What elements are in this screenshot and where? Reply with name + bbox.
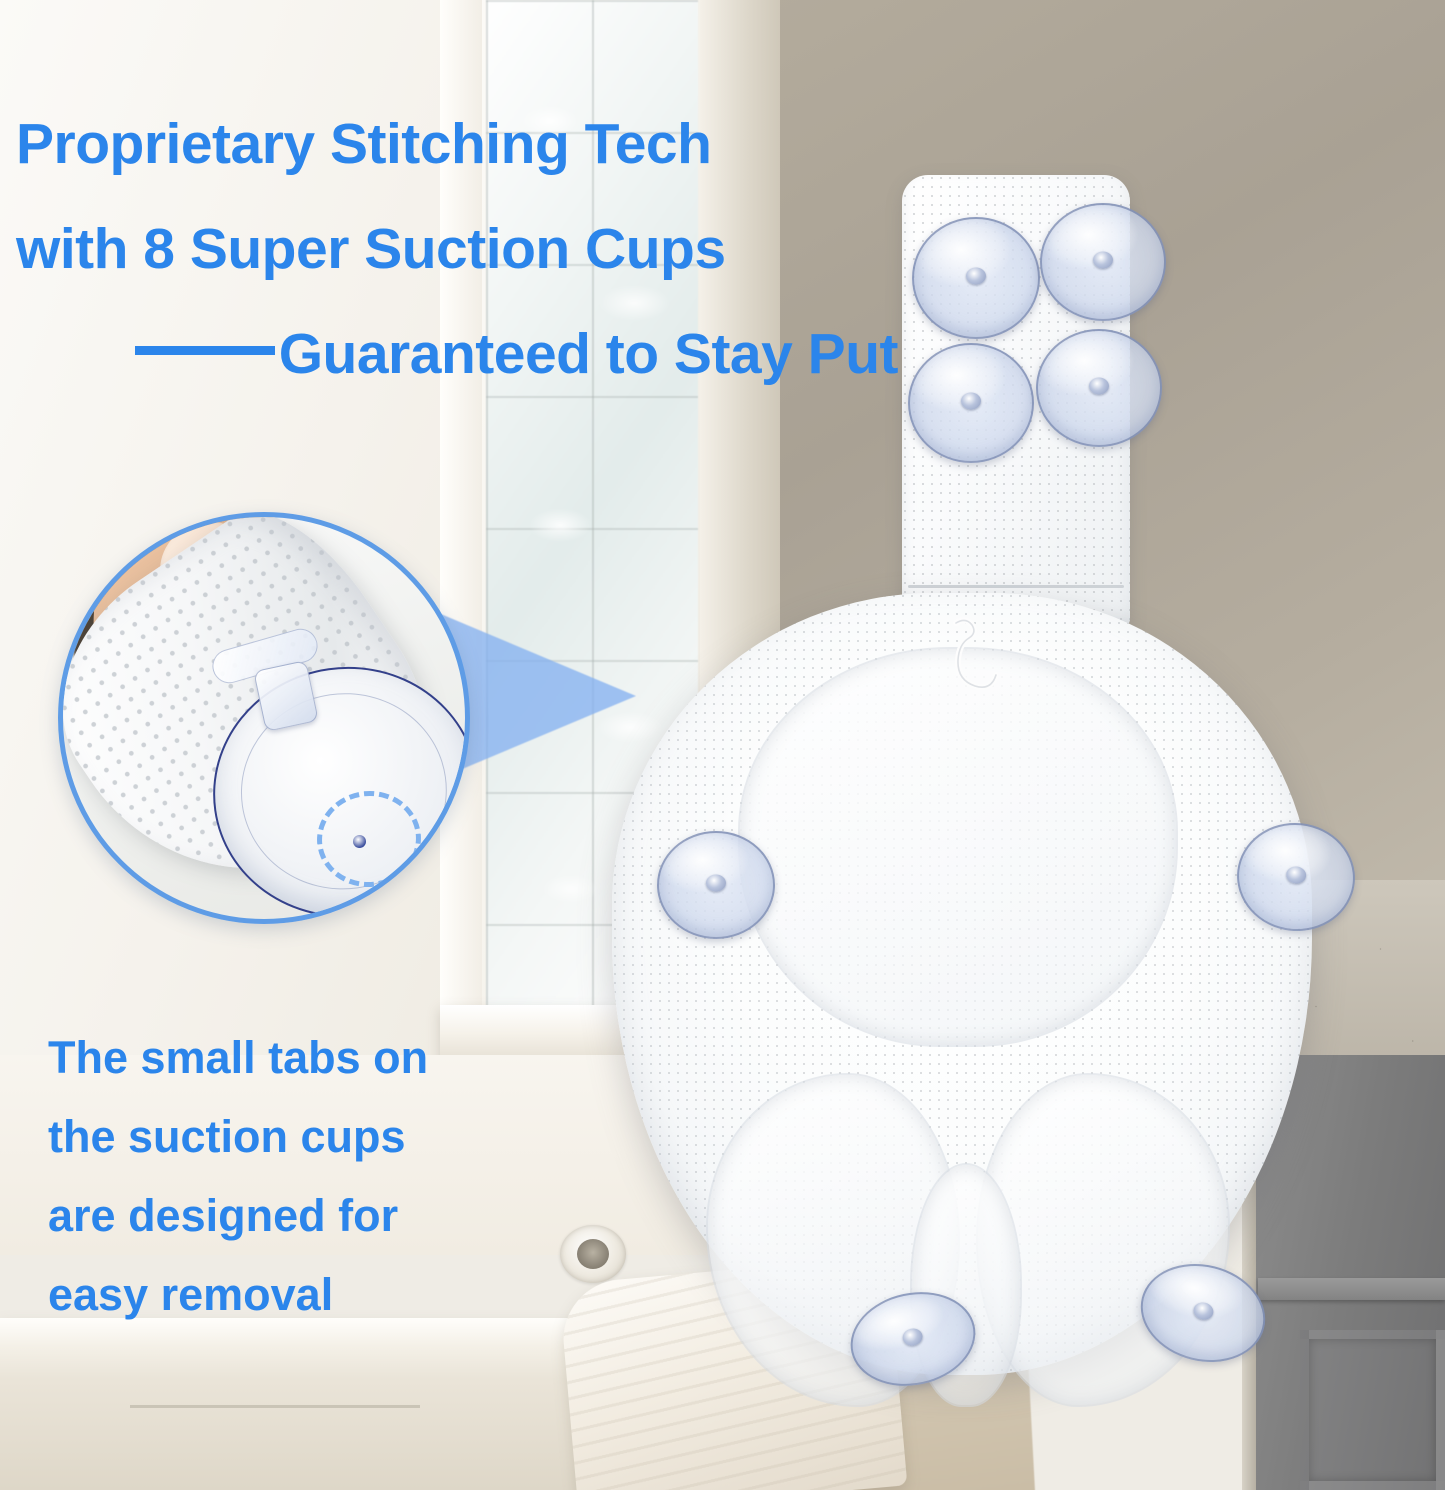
headline-line-3-text: Guaranteed to Stay Put xyxy=(279,322,898,386)
caption-line-4: easy removal xyxy=(48,1255,568,1334)
headline: Proprietary Stitching Tech with 8 Super … xyxy=(16,92,896,407)
suction-cup-neck-3 xyxy=(908,343,1034,463)
product-infographic: Proprietary Stitching Tech with 8 Super … xyxy=(0,0,1445,1490)
caption-line-2: the suction cups xyxy=(48,1097,568,1176)
tub-seam xyxy=(130,1405,420,1408)
suction-cup-neck-2 xyxy=(1040,203,1166,321)
hanging-hook-icon xyxy=(942,615,998,711)
caption-block: The small tabs on the suction cups are d… xyxy=(48,1018,568,1334)
headline-line-1: Proprietary Stitching Tech xyxy=(16,92,896,197)
headline-line-3: Guaranteed to Stay Put xyxy=(16,302,898,407)
caption-line-3: are designed for xyxy=(48,1176,568,1255)
em-dash-rule xyxy=(135,346,275,355)
caption-line-1: The small tabs on xyxy=(48,1018,568,1097)
headline-line-2: with 8 Super Suction Cups xyxy=(16,197,896,302)
cabinet-door-panel xyxy=(1300,1330,1445,1490)
suction-cup-left xyxy=(657,831,775,939)
suction-cup-neck-1 xyxy=(912,217,1040,339)
suction-cup-release-nub xyxy=(353,835,366,848)
pillow-neck-seam xyxy=(908,585,1124,588)
suction-cup-neck-4 xyxy=(1036,329,1162,447)
suction-cup-detail-inset xyxy=(58,512,470,924)
